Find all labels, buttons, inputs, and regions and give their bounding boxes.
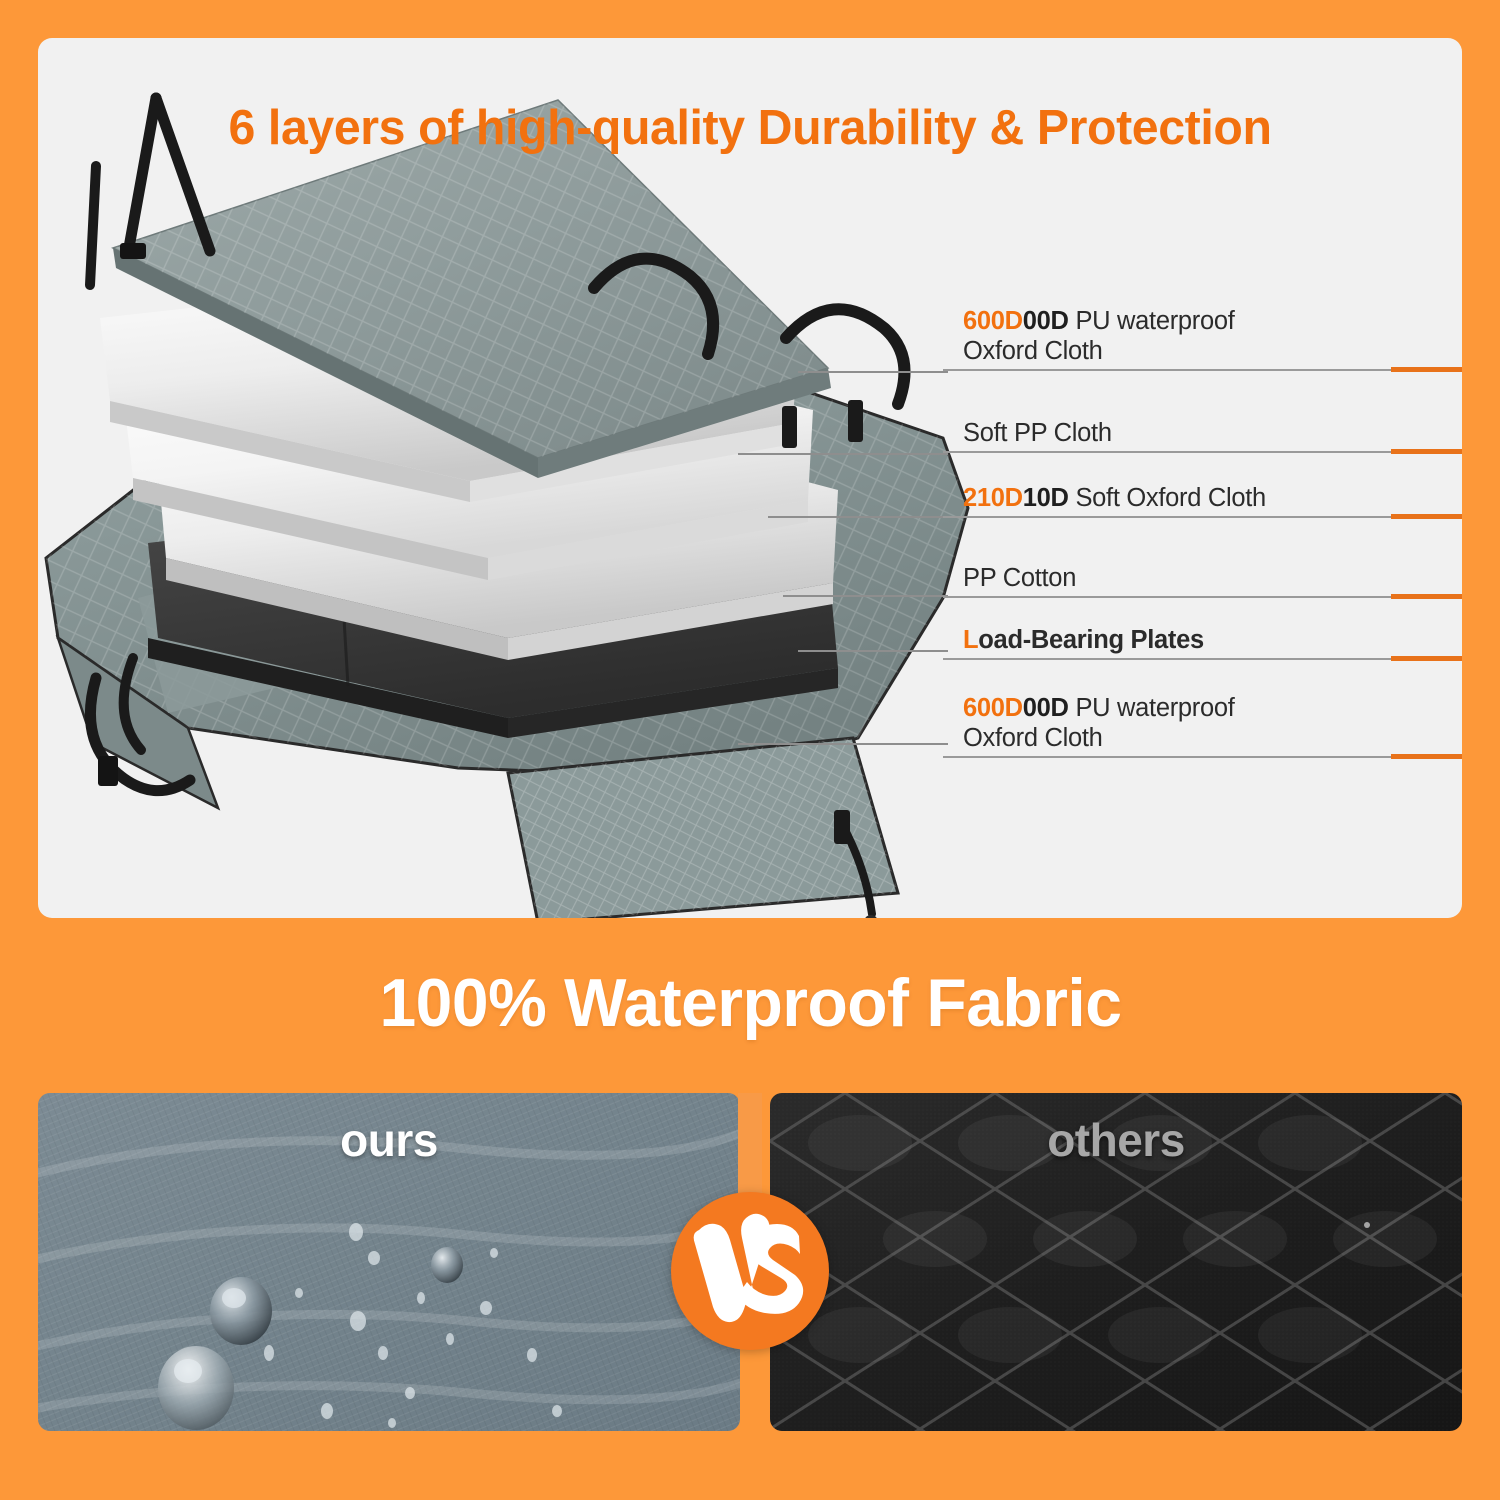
layer-callout-1: 600D00D PU waterproof Oxford Cloth — [943, 283, 1462, 371]
layer-callout-2-text: Soft PP Cloth — [963, 419, 1112, 449]
layer-5-rest: oad-Bearing Plates — [978, 626, 1204, 654]
connector-line-6 — [738, 743, 948, 745]
layer-1-lead-rest: 00D — [1023, 307, 1069, 335]
layer-callout-6-text: 600D00D PU waterproof Oxford Cloth — [963, 694, 1235, 754]
layer-callout-3-text: 210D10D Soft Oxford Cloth — [963, 484, 1266, 514]
ours-label: ours — [38, 1113, 740, 1167]
vs-badge — [671, 1192, 829, 1350]
layer-1-lead: 600D — [963, 307, 1023, 335]
layer-6-rest: PU waterproof — [1069, 694, 1235, 722]
layer-1-rest: PU waterproof — [1069, 307, 1235, 335]
layer-callout-1-text: 600D00D PU waterproof Oxford Cloth — [963, 307, 1235, 367]
waterproof-banner-text: 100% Waterproof Fabric — [379, 964, 1121, 1042]
layers-infographic-panel: 6 layers of high-quality Durability & Pr… — [38, 38, 1462, 918]
layer-callout-4-text: PP Cotton — [963, 564, 1076, 594]
page-title: 6 layers of high-quality Durability & Pr… — [49, 100, 1452, 156]
layer-callout-list: 600D00D PU waterproof Oxford Cloth Soft … — [943, 283, 1462, 763]
layer-callout-4: PP Cotton — [943, 518, 1462, 598]
layer-5-lead: L — [963, 626, 978, 654]
layer-3-rest: Soft Oxford Cloth — [1069, 484, 1266, 512]
connector-line-2 — [738, 453, 948, 455]
waterproof-banner: 100% Waterproof Fabric — [0, 918, 1500, 1088]
connector-line-3 — [768, 516, 948, 518]
layer-callout-5-text: Load-Bearing Plates — [963, 626, 1204, 656]
layer-callout-6: 600D00D PU waterproof Oxford Cloth — [943, 660, 1462, 758]
layer-6-lead: 600D — [963, 694, 1023, 722]
layer-callout-6-rule — [943, 756, 1462, 758]
layer-callout-6-tip — [1391, 754, 1462, 759]
layer-6-lead-rest: 00D — [1023, 694, 1069, 722]
layer-3-lead-rest: 10D — [1023, 484, 1069, 512]
layer-6-line2: Oxford Cloth — [963, 724, 1103, 752]
layer-3-lead: 210D — [963, 484, 1023, 512]
layer-callout-5: Load-Bearing Plates — [943, 598, 1462, 660]
connector-line-1 — [798, 371, 948, 373]
comparison-panel-others: others — [770, 1093, 1462, 1431]
layer-callout-3: 210D10D Soft Oxford Cloth — [943, 453, 1462, 518]
connector-line-4 — [783, 595, 948, 597]
layer-1-line2: Oxford Cloth — [963, 337, 1103, 365]
others-label: others — [770, 1113, 1462, 1167]
connector-line-5 — [798, 650, 948, 652]
comparison-panel-ours: ours — [38, 1093, 740, 1431]
layer-callout-2: Soft PP Cloth — [943, 371, 1462, 453]
